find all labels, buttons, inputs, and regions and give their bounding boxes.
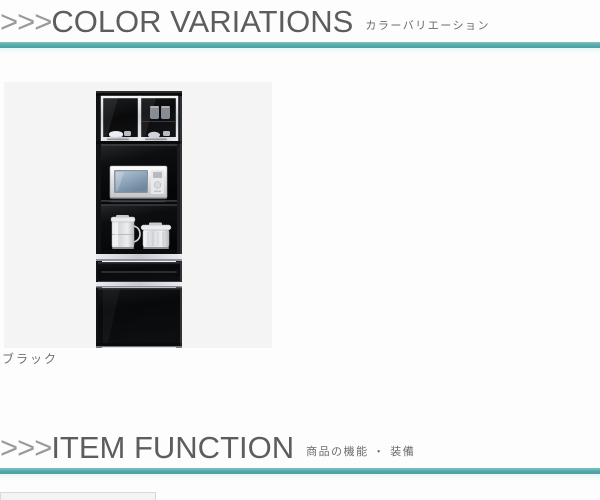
microwave-oven-illustration [110, 166, 167, 199]
item-function-content-panel[interactable] [0, 492, 156, 500]
section-subtitle-color-variations: カラーバリエーション [365, 21, 490, 32]
page-title-color-variations: COLOR VARIATIONS [51, 6, 353, 37]
rice-cooker-illustration [141, 223, 171, 250]
divider-glow-2 [0, 474, 600, 480]
product-image-black [4, 82, 272, 348]
section-heading-item-function: >>> ITEM FUNCTION 商品の機能 ・ 装備 [0, 432, 600, 463]
divider-glow-1 [0, 48, 600, 54]
section-heading-color-variations: >>> COLOR VARIATIONS カラーバリエーション [0, 6, 600, 37]
section-subtitle-item-function: 商品の機能 ・ 装備 [306, 447, 415, 458]
color-variation-item-black[interactable] [4, 82, 272, 348]
chevron-right-icon-group-2: >>> [0, 432, 51, 463]
chevron-right-icon-group-1: >>> [0, 6, 51, 37]
section-divider-1 [0, 42, 600, 54]
page-title-item-function: ITEM FUNCTION [51, 432, 294, 463]
color-variation-caption-black: ブラック [2, 350, 58, 367]
cabinet-illustration [4, 82, 272, 348]
page-root: >>> COLOR VARIATIONS カラーバリエーション [0, 0, 600, 500]
section-divider-2 [0, 468, 600, 480]
